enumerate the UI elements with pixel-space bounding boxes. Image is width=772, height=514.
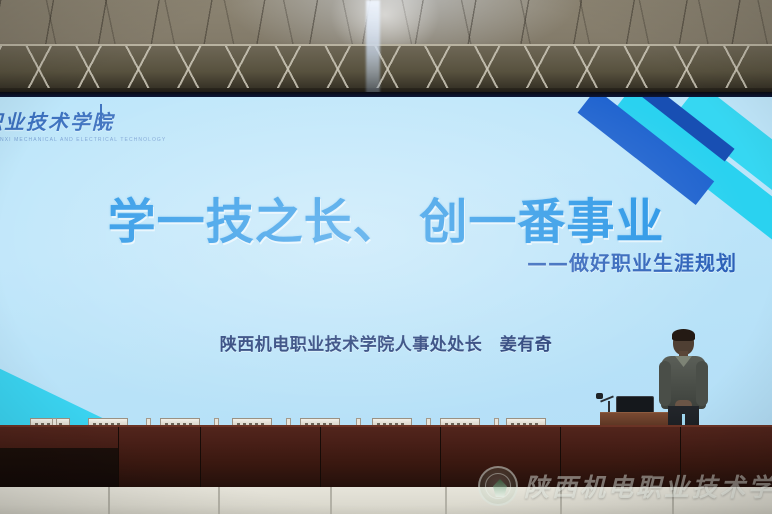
- table-seam: [320, 427, 321, 489]
- stage-shadow-left: [0, 448, 118, 490]
- ceiling-truss: [0, 44, 772, 92]
- slide-subtitle: ——做好职业生涯规划: [527, 247, 737, 276]
- stage-panel-seam: [560, 487, 562, 514]
- table-seam: [680, 427, 681, 489]
- table-seam: [200, 427, 201, 489]
- truss-lattice-icon: [0, 46, 772, 92]
- stage-panel-seam: [108, 487, 110, 514]
- table-seam: [440, 427, 441, 489]
- stage-panel-seam: [330, 487, 332, 514]
- stage-panel-seam: [218, 487, 220, 514]
- suspended-light-fixture: [366, 0, 380, 96]
- microphone-icon: [596, 393, 603, 399]
- stage-front-panel: [0, 487, 772, 514]
- table-seam: [560, 427, 561, 489]
- stage-panel-seam: [445, 487, 447, 514]
- photo-scene: 职业技术学院 SHAANXI MECHANICAL AND ELECTRICAL…: [0, 0, 772, 514]
- slide-logo-en: SHAANXI MECHANICAL AND ELECTRICAL TECHNO…: [0, 137, 132, 143]
- hall-ceiling: [0, 0, 772, 96]
- slide-logo-bar: [100, 104, 102, 130]
- presenter-hair: [672, 329, 695, 341]
- slide-title: 学一技之长、 创一番事业: [0, 182, 772, 252]
- presenter-left-arm: [659, 361, 671, 406]
- presenter-right-arm: [696, 361, 708, 406]
- table-seam: [118, 427, 119, 489]
- stage-panel-seam: [672, 487, 674, 514]
- slide-school-logo: 职业技术学院 SHAANXI MECHANICAL AND ELECTRICAL…: [0, 106, 132, 154]
- slide-logo-cn: 职业技术学院: [0, 106, 132, 135]
